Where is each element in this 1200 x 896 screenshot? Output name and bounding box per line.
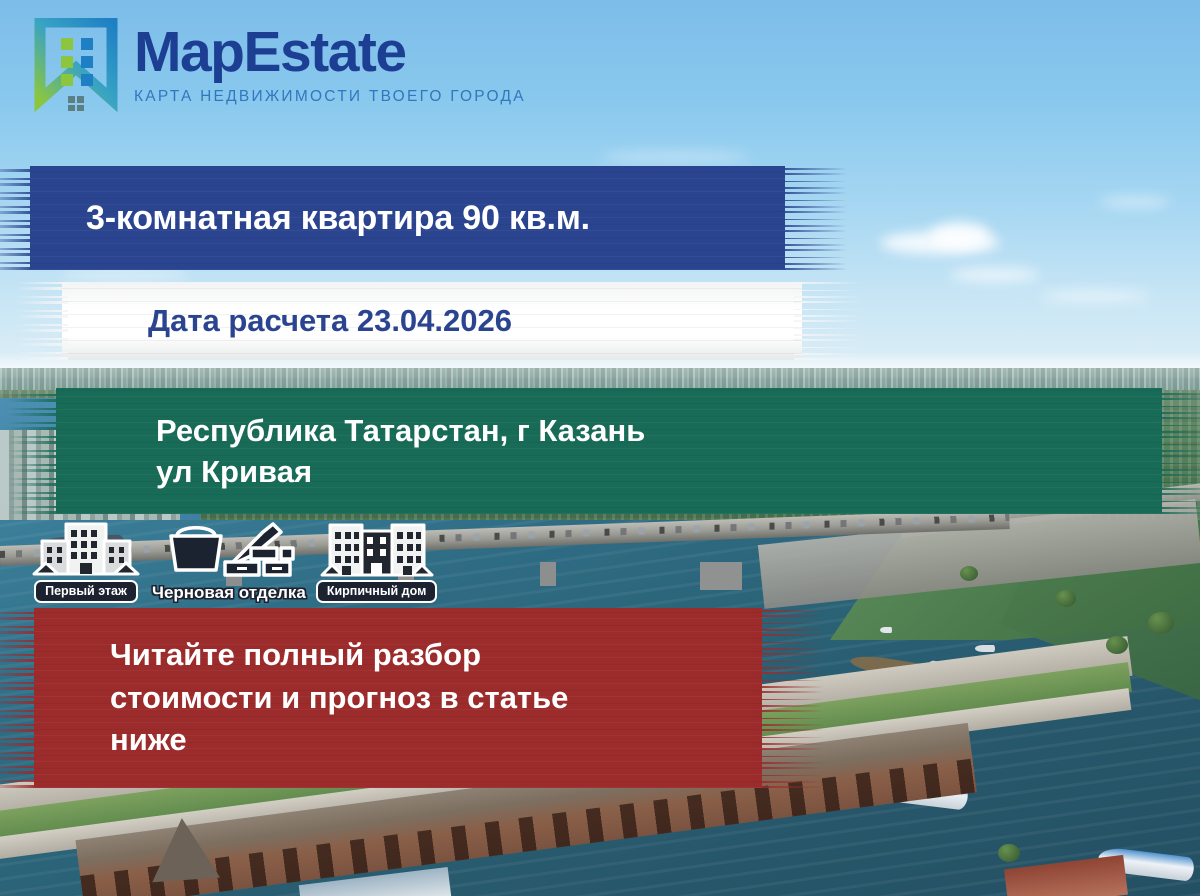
address-line-1: Республика Татарстан, г Казань: [56, 410, 645, 451]
feature-badge-brick-house: Кирпичный дом: [316, 521, 437, 603]
cta-line-3: ниже: [34, 719, 187, 762]
feature-label: Кирпичный дом: [316, 580, 437, 603]
office-building-icon: [30, 521, 142, 588]
cloud-shape: [930, 222, 990, 248]
cloud-shape: [1100, 196, 1170, 208]
bridge-pier: [700, 562, 742, 590]
paint-bucket-trowel-bricks-icon: [163, 520, 295, 587]
tree: [1148, 612, 1174, 634]
brand-tagline: КАРТА НЕДВИЖИМОСТИ ТВОЕГО ГОРОДА: [134, 88, 526, 106]
feature-badge-first-floor: Первый этаж: [30, 521, 142, 603]
property-banner: 3-комнатная квартира 90 кв.м.: [30, 166, 785, 270]
tree: [1056, 590, 1076, 607]
brush-edge-right: [754, 608, 824, 788]
small-boat: [975, 645, 995, 652]
cta-line-2: стоимости и прогноз в статье: [34, 677, 568, 720]
cloud-shape: [1040, 290, 1150, 302]
brush-edge-right: [794, 282, 864, 360]
feature-label: Первый этаж: [34, 580, 138, 603]
poster-canvas: MapEstate КАРТА НЕДВИЖИМОСТИ ТВОЕГО ГОРО…: [0, 0, 1200, 896]
address-banner: Республика Татарстан, г Казань ул Кривая: [56, 388, 1162, 514]
property-title: 3-комнатная квартира 90 кв.м.: [30, 199, 590, 238]
brick-apartment-building-icon: [320, 521, 434, 588]
address-line-2: ул Кривая: [56, 451, 312, 492]
calculation-date: Дата расчета 23.04.2026: [62, 303, 512, 339]
cloud-shape: [950, 268, 1040, 282]
feature-badge-rough-finish: Черновая отделка: [152, 520, 306, 603]
small-boat: [880, 627, 892, 633]
tree: [1106, 636, 1128, 654]
tree: [998, 844, 1020, 862]
brush-edge-right: [777, 166, 847, 270]
feature-label: Черновая отделка: [152, 583, 306, 603]
brush-edge-left: [8, 388, 62, 514]
cta-banner: Читайте полный разбор стоимости и прогно…: [34, 608, 762, 788]
brand-title: MapEstate: [134, 24, 526, 81]
cta-line-1: Читайте полный разбор: [34, 634, 481, 677]
date-banner: Дата расчета 23.04.2026: [62, 282, 802, 360]
bridge-pier: [540, 562, 556, 586]
brand-logo[interactable]: MapEstate КАРТА НЕДВИЖИМОСТИ ТВОЕГО ГОРО…: [34, 18, 526, 112]
bookmark-house-icon: [34, 18, 118, 112]
tree: [960, 566, 978, 581]
cloud-shape: [60, 268, 190, 282]
kremlin-tower: [148, 816, 220, 883]
brush-edge-left: [14, 282, 68, 360]
brush-edge-right: [1154, 388, 1200, 514]
cloud-shape: [600, 150, 750, 164]
feature-badge-row: Первый этаж: [30, 520, 437, 603]
